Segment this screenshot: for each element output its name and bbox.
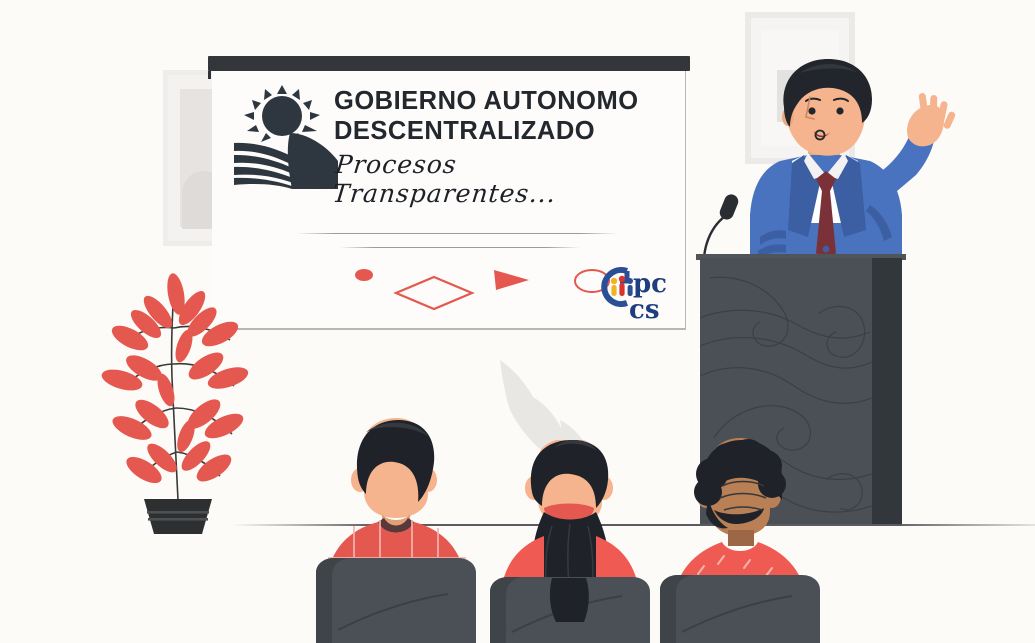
screen-mount-bar [208,56,690,71]
slide-decorative-shapes [342,259,632,315]
cpccs-letters-bottom: cs [629,295,659,323]
filled-triangle-icon [494,270,529,290]
presentation-illustration: GOBIERNO AUTONOMO DESCENTRALIZADO Proces… [0,0,1035,643]
slide-tagline: Procesos Transparentes... [331,150,685,208]
audience-member-1-icon [308,418,484,643]
slide-title-line2: DESCENTRALIZADO [334,119,682,145]
lectern-side-panel [872,258,902,526]
slide-divider-1 [296,233,618,234]
potted-plant-icon [88,268,268,536]
filled-ellipse-icon [355,269,373,281]
cpccs-logo-icon: pc cs [600,261,678,323]
presentation-slide: GOBIERNO AUTONOMO DESCENTRALIZADO Proces… [212,71,685,328]
audience-member-3-icon [652,438,828,643]
slide-title-line1: GOBIERNO AUTONOMO [334,89,682,115]
gad-sun-field-logo-icon [234,85,344,193]
slide-divider-2 [340,247,580,248]
outline-diamond-icon [396,277,472,309]
plant-pot [144,499,212,534]
projection-screen: GOBIERNO AUTONOMO DESCENTRALIZADO Proces… [212,71,686,330]
audience-member-2-icon [482,440,658,643]
slide-title-block: GOBIERNO AUTONOMO DESCENTRALIZADO Proces… [334,89,682,208]
